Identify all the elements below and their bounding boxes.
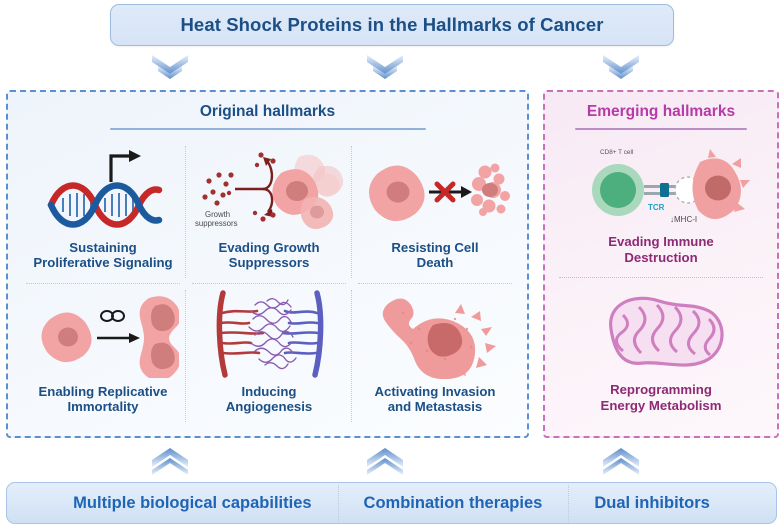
hallmark-label: Activating Invasionand Metastasis (375, 384, 496, 414)
chevron-down-center (363, 52, 407, 82)
chevron-up-left (148, 446, 192, 476)
emerging-panel-divider (559, 277, 763, 278)
mitochondrion-icon (581, 288, 741, 380)
hallmark-evading-immune-destruction[interactable]: CD8+ T cell TCR ↓MHC-I (545, 140, 777, 265)
hallmark-label: InducingAngiogenesis (226, 384, 312, 414)
growth-suppressors-icon: Growthsuppressors (186, 144, 352, 236)
migrating-cell-icon (352, 288, 518, 380)
bottom-item-2[interactable]: Dual inhibitors (568, 494, 736, 513)
hallmark-sustaining-proliferative-signaling[interactable]: SustainingProliferative Signaling (20, 140, 186, 284)
cd8-t-cell-label: CD8+ T cell (600, 149, 633, 156)
hallmark-label: Enabling ReplicativeImmortality (39, 384, 168, 414)
emerging-hallmarks-panel: Emerging hallmarks CD8+ T cell (543, 90, 779, 438)
title-banner: Heat Shock Proteins in the Hallmarks of … (110, 4, 674, 46)
capillary-network-icon (186, 288, 352, 380)
dna-transcription-icon (20, 144, 186, 236)
header-rule (575, 128, 747, 130)
original-hallmarks-header: Original hallmarks (8, 92, 527, 130)
hallmark-evading-growth-suppressors[interactable]: Growthsuppressors Evading GrowthSuppress… (186, 140, 352, 284)
chevron-down-right (599, 52, 643, 82)
tcell-tumor-mhc-icon: CD8+ T cell TCR ↓MHC-I (566, 140, 756, 232)
hallmark-resisting-cell-death[interactable]: Resisting CellDeath (352, 140, 518, 284)
hallmark-label: Evading ImmuneDestruction (608, 234, 714, 265)
tcr-label: TCR (648, 203, 665, 212)
cell-division-infinity-icon (20, 288, 186, 380)
hallmark-inducing-angiogenesis[interactable]: InducingAngiogenesis (186, 284, 352, 428)
original-hallmarks-grid: SustainingProliferative Signaling (20, 140, 518, 428)
hallmark-label: Resisting CellDeath (391, 240, 478, 270)
diagram-canvas: Heat Shock Proteins in the Hallmarks of … (0, 0, 783, 529)
bottom-item-1[interactable]: Combination therapies (338, 494, 569, 513)
original-hallmarks-panel: Original hallmarks (6, 90, 529, 438)
growth-suppressors-label: suppressors (195, 219, 238, 228)
chevron-up-center (363, 446, 407, 476)
hallmark-reprogramming-energy-metabolism[interactable]: ReprogrammingEnergy Metabolism (545, 288, 777, 413)
emerging-hallmarks-title: Emerging hallmarks (545, 103, 777, 121)
header-rule (110, 128, 426, 130)
growth-suppressors-label: Growth (205, 210, 230, 219)
emerging-hallmarks-header: Emerging hallmarks (545, 92, 777, 130)
chevron-up-right (599, 446, 643, 476)
hallmark-label: SustainingProliferative Signaling (33, 240, 172, 270)
mhc-i-label: ↓MHC-I (670, 215, 697, 224)
hallmark-activating-invasion-metastasis[interactable]: Activating Invasionand Metastasis (352, 284, 518, 428)
hallmark-label: ReprogrammingEnergy Metabolism (601, 382, 722, 413)
hallmark-label: Evading GrowthSuppressors (218, 240, 319, 270)
chevron-down-left (148, 52, 192, 82)
original-hallmarks-title: Original hallmarks (8, 103, 527, 121)
hallmark-enabling-replicative-immortality[interactable]: Enabling ReplicativeImmortality (20, 284, 186, 428)
bottom-implications-bar: Multiple biological capabilities Combina… (6, 482, 777, 524)
page-title: Heat Shock Proteins in the Hallmarks of … (180, 14, 603, 36)
bottom-item-0[interactable]: Multiple biological capabilities (47, 494, 337, 513)
apoptosis-blocked-icon (352, 144, 518, 236)
